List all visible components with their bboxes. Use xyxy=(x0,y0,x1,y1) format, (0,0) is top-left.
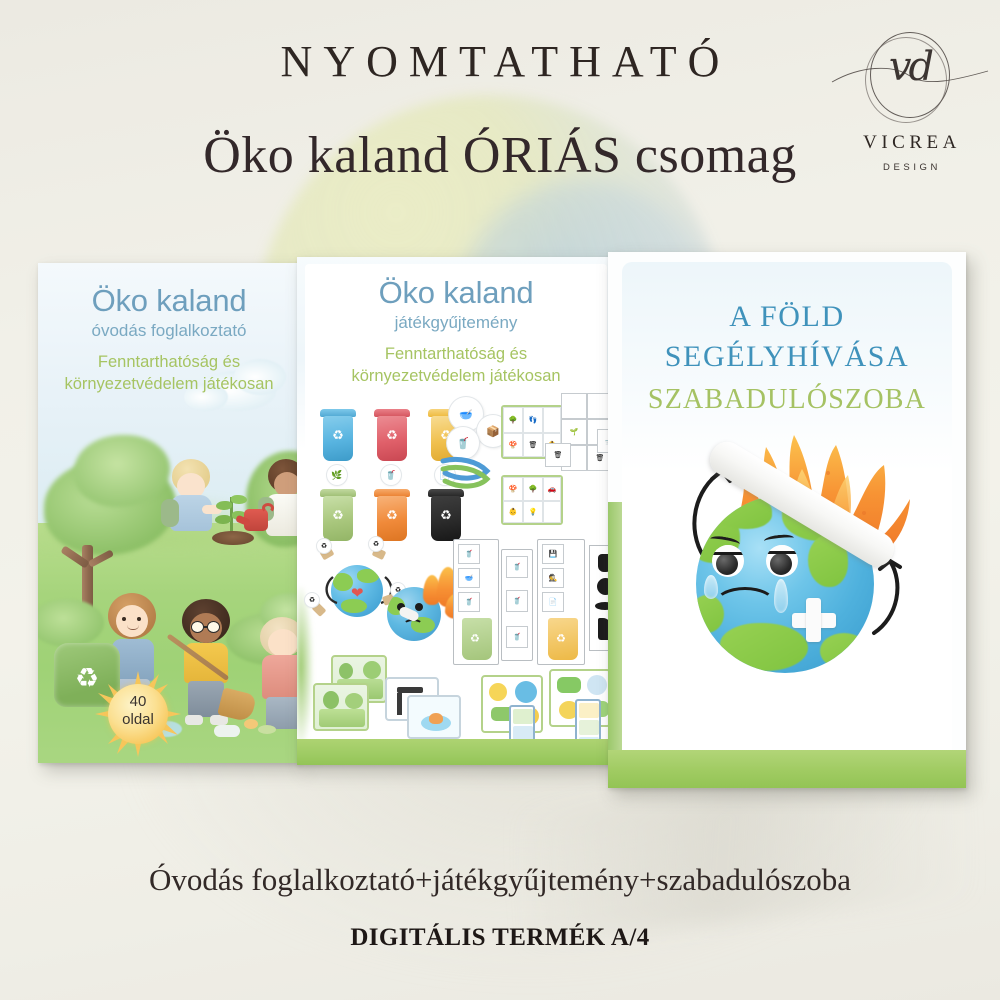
card3-green-band xyxy=(608,750,966,788)
recycling-bin-blue: ♻ xyxy=(321,409,355,461)
card3-title-line3: SZABADULÓSZOBA xyxy=(608,384,966,416)
logo-brand-name: VICREA xyxy=(848,132,972,154)
sorting-strip-green: 🥤 🥣 🥤 ♻ xyxy=(453,539,499,665)
page-count-badge: 40 oldal xyxy=(95,671,181,757)
card2-subtitle: játékgyűjtemény xyxy=(297,313,615,333)
litter-bottle xyxy=(214,725,240,737)
recycling-bin-green: ♻ xyxy=(321,489,355,541)
card1-tagline-2: környezetvédelem játékosan xyxy=(38,373,300,395)
product-card-jatekgyujtemeny[interactable]: Öko kaland játékgyűjtemény Fenntarthatós… xyxy=(297,257,615,765)
recycling-bin-orange: ♻ xyxy=(375,489,409,541)
footer-line-1: Óvodás foglalkoztató+játékgyűjtemény+sza… xyxy=(0,862,1000,898)
game-grid-card: 🍄 🌳 🚗 👶 💡 xyxy=(501,475,563,525)
tongs-icon xyxy=(439,455,493,491)
eye-left xyxy=(712,545,744,577)
clip-token: ♻ xyxy=(305,593,319,607)
card2-green-band xyxy=(297,739,615,765)
recycling-bin-red: ♻ xyxy=(375,409,409,461)
footer-line-2: DIGITÁLIS TERMÉK A/4 xyxy=(0,924,1000,952)
card1-title: Öko kaland xyxy=(38,283,300,319)
clip-token: ♻ xyxy=(317,539,331,553)
recycling-bin-black: ♻ xyxy=(429,489,463,541)
recycle-icon: ♻ xyxy=(332,428,344,441)
litter-leaf xyxy=(258,725,276,734)
mouth-sad xyxy=(714,587,776,621)
plaster-icon xyxy=(806,598,821,642)
card2-leaf-accent xyxy=(297,587,313,747)
poster-canvas: NYOMTATHATÓ Öko kaland ÓRIÁS csomag vd V… xyxy=(0,0,1000,1000)
card1-subtitle: óvodás foglalkoztató xyxy=(38,321,300,341)
card3-title-line1: A FÖLD xyxy=(608,300,966,334)
recycle-icon: ♻ xyxy=(386,508,398,521)
logo-monogram: vd xyxy=(848,44,972,90)
card2-tagline-2: környezetvédelem játékosan xyxy=(297,365,615,387)
tear-left xyxy=(704,575,718,599)
brand-logo: vd VICREA DESIGN xyxy=(848,32,972,184)
card1-tagline-1: Fenntarthatóság és xyxy=(38,351,300,373)
clip-token: ♻ xyxy=(369,537,383,551)
logo-subtitle: DESIGN xyxy=(848,162,972,173)
child-planting xyxy=(158,459,224,545)
card3-title-line2: SEGÉLYHÍVÁSA xyxy=(608,340,966,374)
litter-peel xyxy=(244,719,258,729)
eye-right xyxy=(766,545,798,577)
badge-number: 40 xyxy=(130,693,147,710)
card2-title: Öko kaland xyxy=(297,275,615,311)
product-card-szabadulószoba[interactable]: A FÖLD SEGÉLYHÍVÁSA SZABADULÓSZOBA xyxy=(608,252,966,788)
badge-unit: oldal xyxy=(122,711,154,728)
sorting-strip-bottles: 🥤 🥤 🥤 xyxy=(501,549,533,661)
card2-tagline-1: Fenntarthatóság és xyxy=(297,343,615,365)
sorting-strip-yellow: 💾 🕵 📄 ♻ xyxy=(537,539,585,665)
earth-mascot xyxy=(668,417,918,707)
watering-can-icon xyxy=(240,503,276,533)
badge-text: 40 oldal xyxy=(95,693,181,729)
token-leaf: 🌿 xyxy=(327,465,347,485)
scene-photo-card xyxy=(407,695,461,739)
token-bottle: 🥤 xyxy=(381,465,401,485)
recycle-icon: ♻ xyxy=(440,508,452,521)
product-card-ovodas-foglalkoztato[interactable]: ♻ xyxy=(38,263,300,763)
recycle-icon: ♻ xyxy=(386,428,398,441)
scene-photo-card xyxy=(313,683,369,731)
recycle-icon: ♻ xyxy=(332,508,344,521)
soil-mound xyxy=(212,531,254,545)
board-token: 🗑 xyxy=(545,443,571,467)
